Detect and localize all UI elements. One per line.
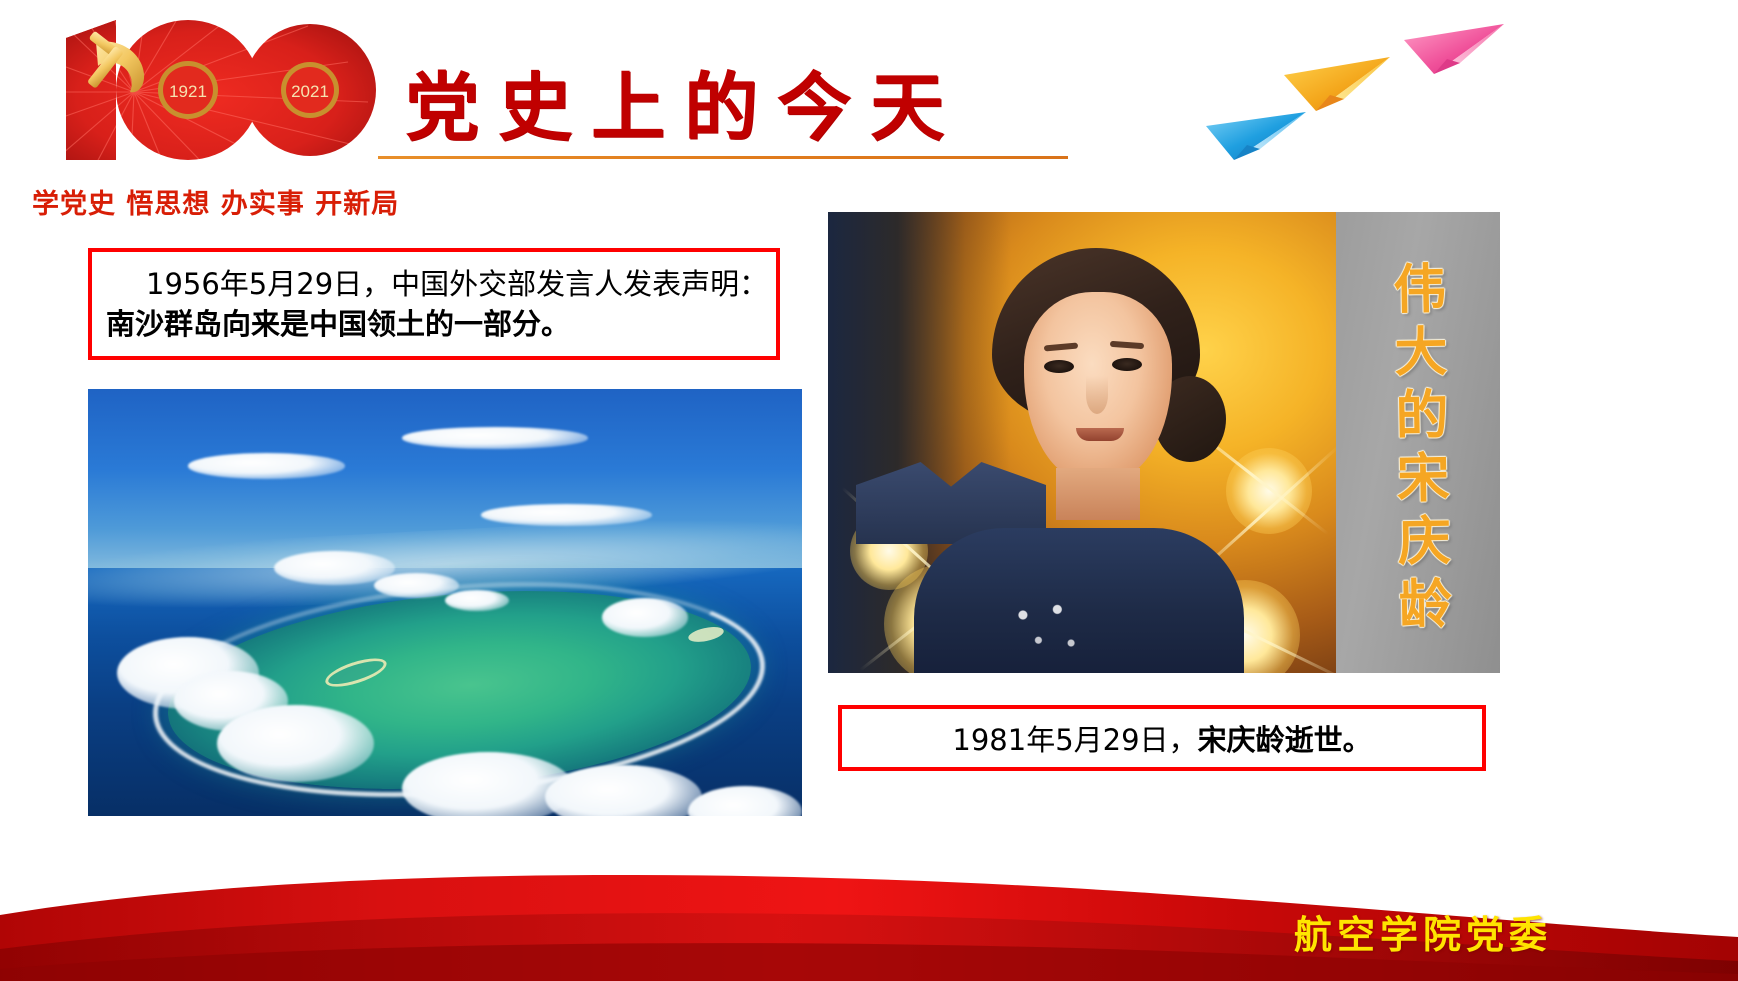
photo-cloud	[481, 504, 652, 525]
photo-cloud	[602, 598, 688, 636]
right-event-note-box: 1981年5月29日，宋庆龄逝世。	[838, 705, 1486, 771]
photo-cloud	[188, 453, 345, 479]
portrait-eye-left	[1044, 360, 1074, 373]
header-region: 1921 2021 学党史 悟思想 办实事 开新局 党史上的今天	[0, 0, 1738, 230]
calligraphy-text: 伟大的宋庆龄	[1382, 260, 1453, 639]
nansha-reef-aerial-photo	[88, 389, 802, 816]
title-underline-rule	[378, 156, 1068, 159]
slide-canvas: 1921 2021 学党史 悟思想 办实事 开新局 党史上的今天	[0, 0, 1738, 981]
page-title: 党史上的今天	[405, 48, 963, 155]
photo-cloud	[402, 427, 588, 448]
logo-year-1921: 1921	[169, 82, 207, 101]
left-event-note-box: 1956年5月29日，中国外交部发言人发表声明： 南沙群岛向来是中国领土的一部分…	[88, 248, 780, 360]
right-note-bold: 宋庆龄逝世。	[1198, 723, 1372, 757]
left-note-line-2: 南沙群岛向来是中国领土的一部分。	[106, 304, 762, 344]
portrait-mouth	[1076, 428, 1124, 441]
portrait-eye-right	[1112, 358, 1142, 371]
right-note-text: 1981年5月29日，宋庆龄逝世。	[952, 717, 1371, 759]
song-qingling-portrait-frame: 伟大的宋庆龄	[828, 212, 1500, 673]
paper-plane-blue-icon	[1204, 110, 1310, 176]
portrait-garment-motif	[1004, 594, 1090, 664]
cpc-100th-anniversary-logo: 1921 2021	[38, 12, 378, 182]
paper-plane-pink-icon	[1402, 22, 1508, 90]
organization-name: 航空学院党委	[1294, 904, 1552, 959]
calligraphy-panel: 伟大的宋庆龄	[1336, 212, 1500, 673]
right-note-plain: 1981年5月29日，	[952, 723, 1197, 757]
portrait-neck	[1056, 468, 1140, 520]
photo-cloud	[217, 705, 374, 782]
photo-cloud	[374, 573, 460, 599]
photo-cloud	[688, 786, 802, 816]
painting-sparkle	[1226, 448, 1312, 534]
party-study-slogan: 学党史 悟思想 办实事 开新局	[32, 182, 399, 221]
portrait-nose	[1086, 376, 1108, 414]
left-note-line-1: 1956年5月29日，中国外交部发言人发表声明：	[106, 264, 762, 304]
logo-svg: 1921 2021	[38, 12, 378, 182]
logo-year-2021: 2021	[291, 82, 329, 101]
photo-cloud	[445, 590, 509, 611]
footer-ribbon-region: 航空学院党委	[0, 871, 1738, 981]
song-qingling-painting	[828, 212, 1336, 673]
